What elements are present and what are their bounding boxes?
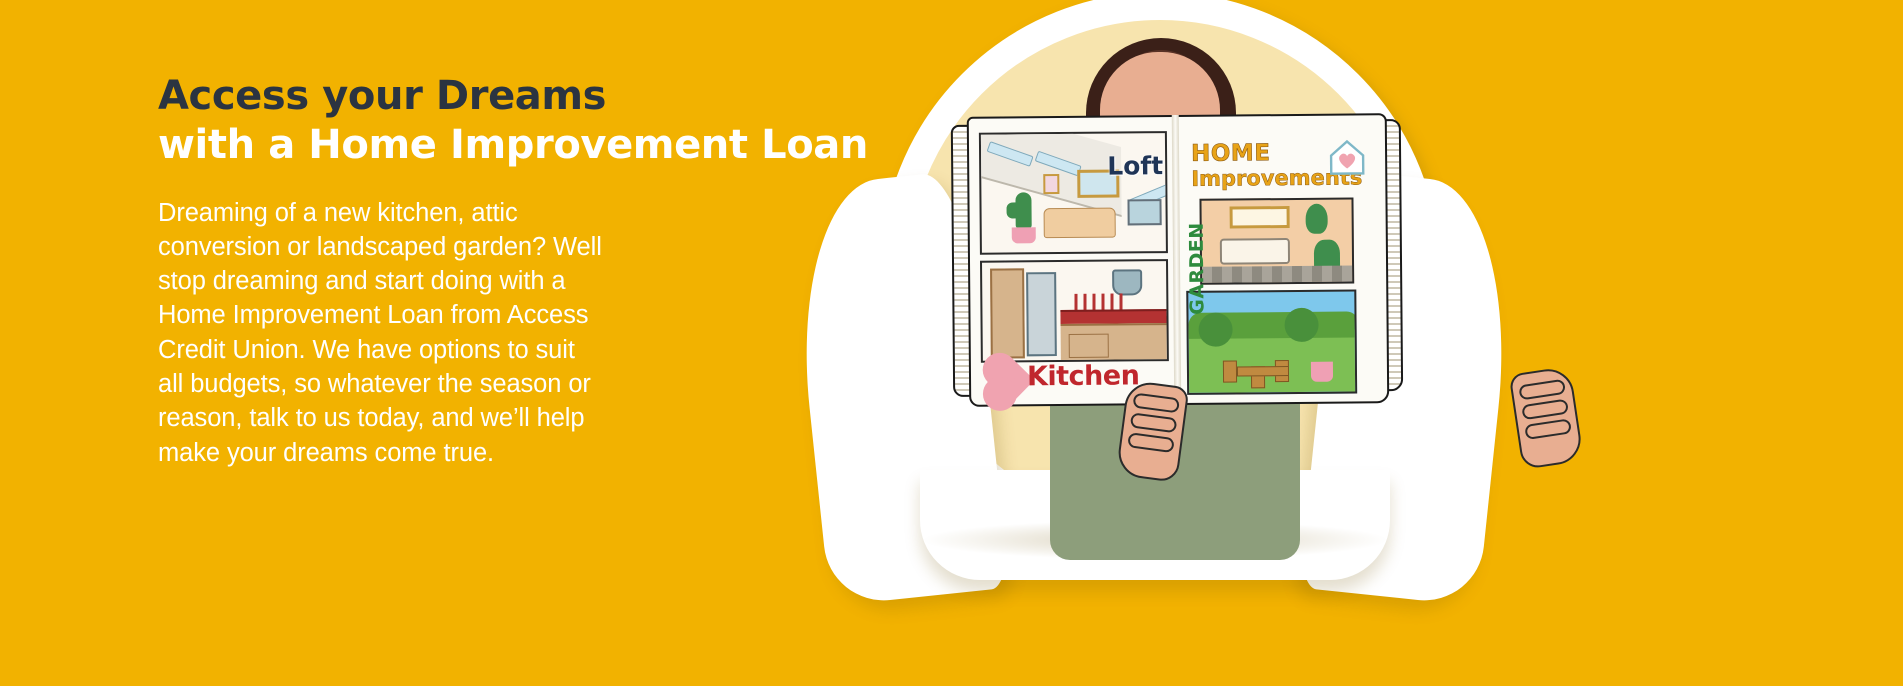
sofa [1044, 208, 1116, 239]
headline-line-2: with a Home Improvement Loan [158, 121, 858, 170]
loft-illustration-panel [979, 131, 1168, 255]
finger [1127, 432, 1175, 453]
body-line: reason, talk to us today, and we’ll help [158, 401, 628, 435]
garden-table [1237, 366, 1289, 376]
cradled-hands-illustration: Loft Kitchen HOME Improvements [800, 0, 1500, 686]
body-line: Home Improvement Loan from Access [158, 298, 628, 332]
magazine-page-left: Loft Kitchen [967, 115, 1178, 407]
kitchen-illustration-panel [980, 259, 1169, 363]
base-cabinets [1061, 323, 1167, 362]
finger [1132, 393, 1180, 414]
cactus-plant [1015, 192, 1031, 228]
wall-picture [1043, 174, 1059, 194]
body-line: stop dreaming and start doing with a [158, 264, 628, 298]
plant-pot [1012, 227, 1036, 243]
body-line: make your dreams come true. [158, 436, 628, 470]
finger [1518, 379, 1566, 401]
fridge [1026, 272, 1057, 356]
bench-sofa [1220, 238, 1290, 265]
garden-planter [1311, 362, 1333, 382]
home-improvement-loan-banner: Access your Dreams with a Home Improveme… [0, 0, 1903, 686]
magazine-label-garden: GARDEN [1186, 222, 1209, 315]
stone-floor [1202, 265, 1354, 284]
headline-line-1: Access your Dreams [158, 72, 858, 121]
hanging-plant [1306, 204, 1328, 234]
tree [1284, 308, 1318, 342]
body-line: Dreaming of a new kitchen, attic [158, 196, 628, 230]
finger [1130, 412, 1178, 433]
magazine-label-kitchen: Kitchen [1027, 360, 1140, 392]
house-heart-icon [1325, 135, 1369, 179]
magazine-label-home: HOME [1191, 140, 1271, 167]
banner-text-column: Access your Dreams with a Home Improveme… [158, 72, 858, 470]
magazine: Loft Kitchen HOME Improvements [967, 113, 1390, 407]
body-line: Credit Union. We have options to suit [158, 333, 628, 367]
tree [1198, 313, 1232, 347]
magazine-label-loft: Loft [1107, 151, 1163, 180]
garden-chair [1223, 360, 1237, 382]
television [1127, 199, 1161, 225]
hand-gripping-magazine-right [1509, 366, 1585, 470]
body-line: conversion or landscaped garden? Well [158, 230, 628, 264]
extractor-hood [1112, 269, 1142, 295]
wall-mirror [1230, 206, 1290, 229]
finger [1524, 418, 1572, 440]
garden-illustration-panel [1186, 289, 1357, 394]
finger [1521, 399, 1569, 421]
body-line: all budgets, so whatever the season or [158, 367, 628, 401]
tall-cabinet [990, 268, 1025, 358]
banner-body-copy: Dreaming of a new kitchen, attic convers… [158, 196, 628, 470]
red-worktop [1060, 309, 1166, 324]
interior-illustration-panel [1199, 197, 1354, 284]
